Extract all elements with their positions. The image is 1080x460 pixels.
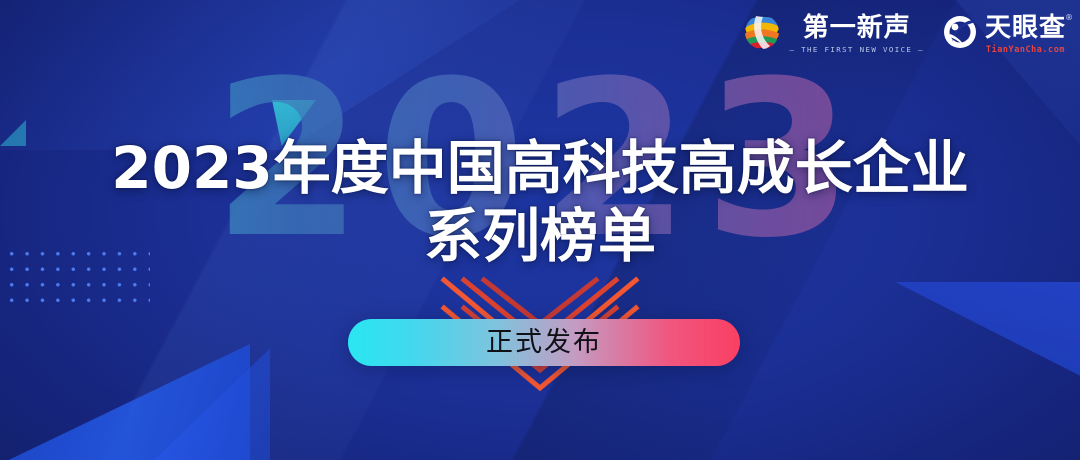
release-status-label: 正式发布 — [486, 329, 602, 356]
registered-mark-icon: ® — [1065, 13, 1073, 22]
logo-diyixinsheng[interactable]: 第一新声 — THE FIRST NEW VOICE — — [742, 12, 924, 57]
swirl-globe-icon — [742, 12, 782, 57]
logo-diyixinsheng-tagline: — THE FIRST NEW VOICE — — [789, 45, 924, 54]
page-title: 2023年度中国高科技高成长企业 系列榜单 — [0, 134, 1080, 271]
logo-bar: 第一新声 — THE FIRST NEW VOICE — 天眼查 ® TianY… — [742, 12, 1066, 57]
camera-shutter-icon — [942, 14, 978, 55]
release-status-button[interactable]: 正式发布 — [348, 319, 740, 366]
headline-line-2: 系列榜单 — [0, 202, 1080, 270]
logo-tianyancha-tagline: TianYanCha.com — [986, 44, 1065, 54]
logo-tianyancha[interactable]: 天眼查 ® TianYanCha.com — [942, 14, 1066, 55]
headline-line-1: 2023年度中国高科技高成长企业 — [0, 134, 1080, 202]
promo-banner: 2023 2023年度中国高科技高成长企业 系列榜单 正式发布 — [0, 0, 1080, 460]
logo-diyixinsheng-name: 第一新声 — [803, 15, 911, 42]
logo-tianyancha-name: 天眼查 — [985, 15, 1066, 42]
